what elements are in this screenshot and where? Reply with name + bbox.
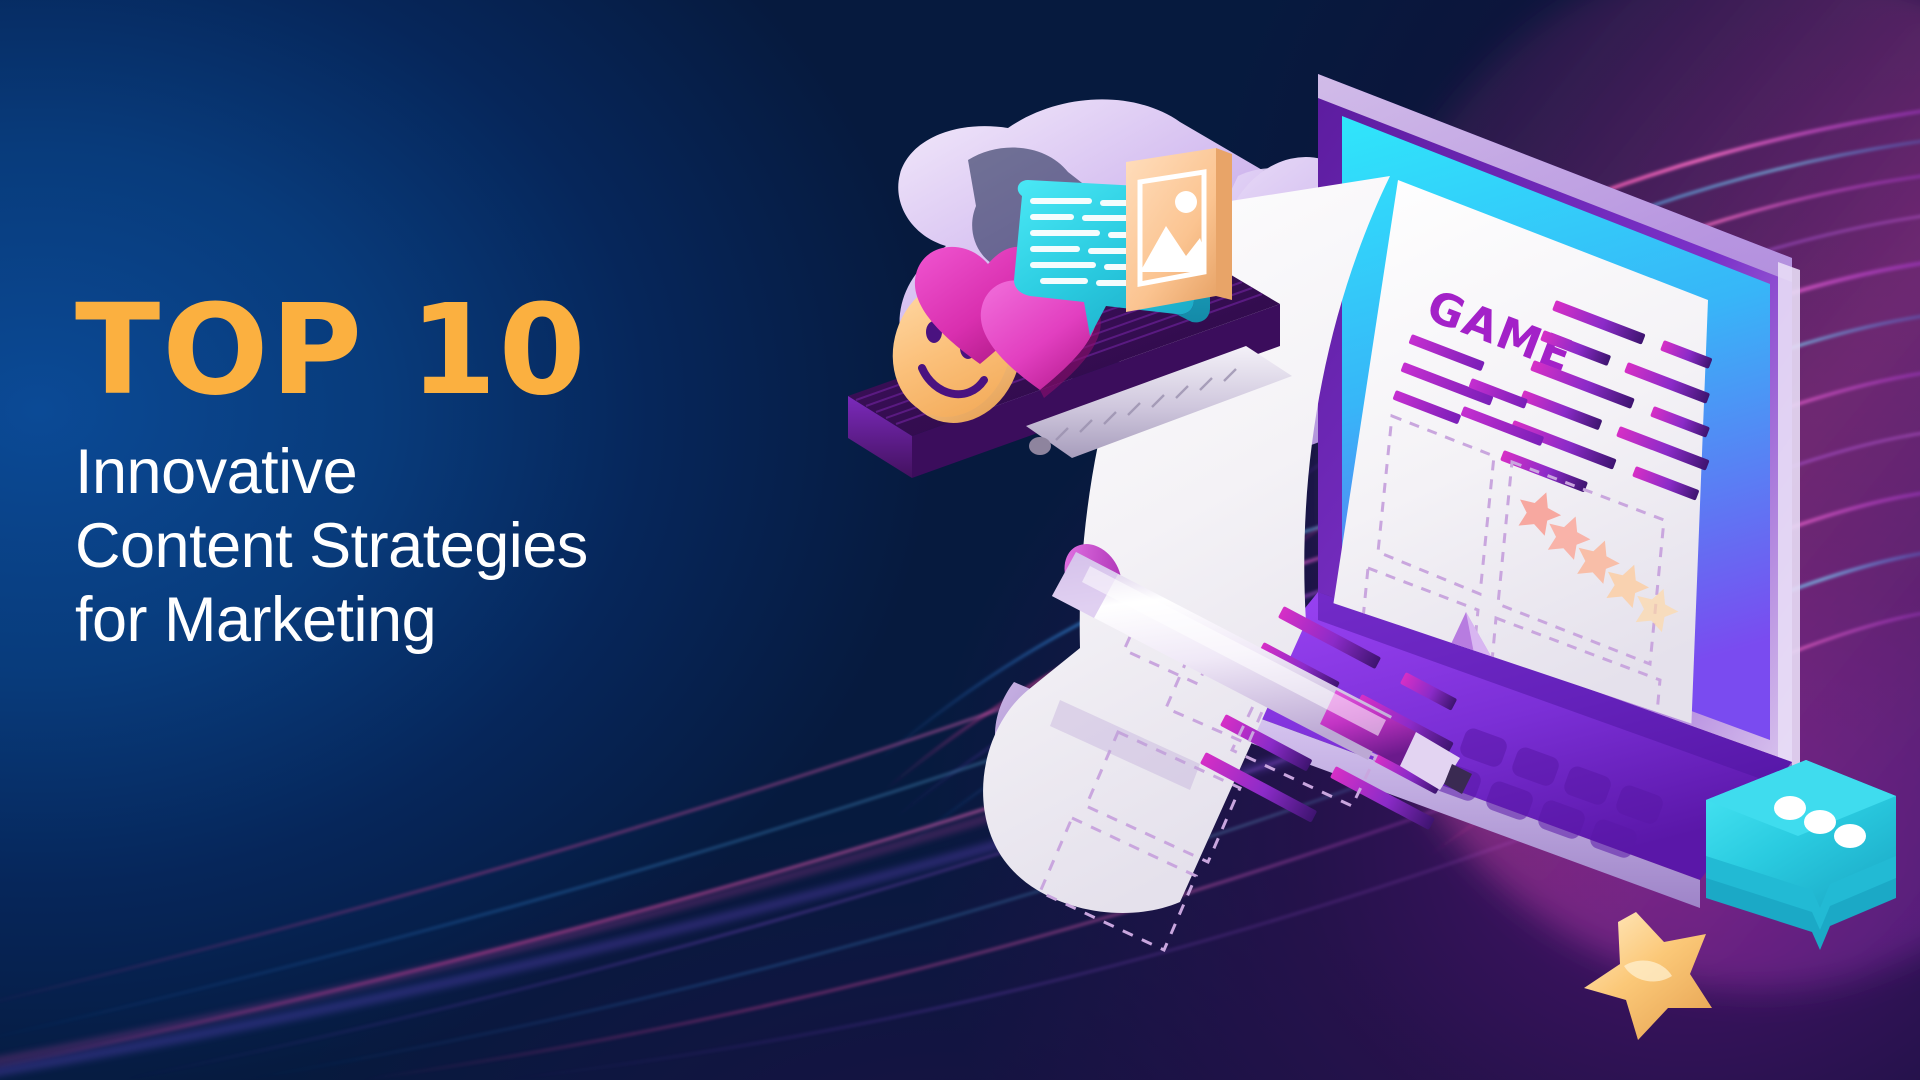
headline-kicker: TOP 10 [75, 292, 895, 411]
chat-stack-dots [1774, 796, 1866, 848]
screen-document: GAME [1330, 180, 1713, 812]
cloud-shape [898, 99, 1397, 448]
stylus-pen [1050, 533, 1472, 794]
isometric-laptop [1226, 74, 1800, 908]
doc-rating-stars [1494, 485, 1701, 635]
headline-block: TOP 10 Innovative Content Strategies for… [75, 292, 895, 658]
doc-text-lines [1392, 300, 1712, 501]
subtitle-line-3: for Marketing [75, 583, 895, 657]
banner-root: GAME [0, 0, 1920, 1080]
chat-bubble-text-lines [1030, 198, 1170, 286]
smiley-face-icon [875, 264, 1039, 440]
image-card-icon [1126, 148, 1232, 312]
doc-placeholder-boxes [1356, 416, 1664, 812]
conveyor-belt [848, 266, 1292, 478]
subtitle-line-1: Innovative [75, 435, 895, 509]
headline-subtitle: Innovative Content Strategies for Market… [75, 435, 895, 658]
paper-placeholder-boxes [1040, 610, 1376, 950]
game-title-text: GAME [1420, 281, 1580, 383]
curved-paper-sheet [983, 176, 1457, 950]
heart-icon-front [981, 280, 1101, 398]
paper-text-lines [1200, 606, 1457, 830]
roller-ribs [1056, 369, 1236, 440]
chat-bubble-icon [1014, 180, 1210, 336]
star-icon [1584, 912, 1712, 1040]
chat-stack-icon [1706, 760, 1896, 950]
subtitle-line-2: Content Strategies [75, 509, 895, 583]
doc-play-triangle [1436, 612, 1500, 676]
heart-icon-back [915, 247, 1043, 364]
laptop-keyboard [1432, 726, 1666, 860]
